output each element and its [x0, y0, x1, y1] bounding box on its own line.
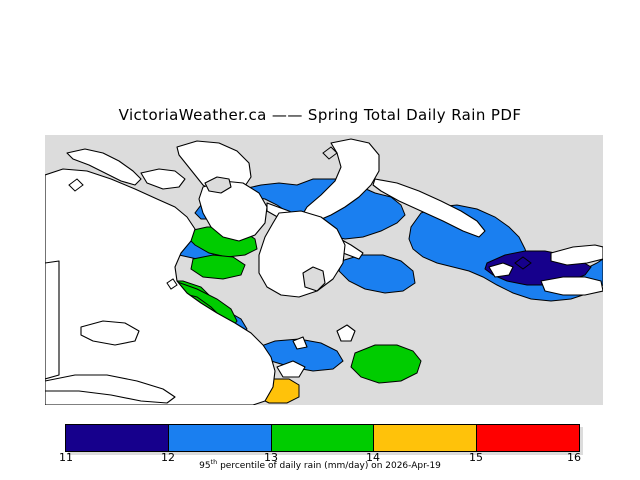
coast-east-white-strip-b — [541, 277, 603, 295]
colorbar-band-11-12[interactable] — [66, 425, 169, 451]
caption-rest: percentile of daily rain (mm/day) on 202… — [217, 461, 441, 471]
screenshot-root: VictoriaWeather.ca —— Spring Total Daily… — [0, 0, 640, 480]
colorbar-band-15-16[interactable] — [477, 425, 579, 451]
coast-west-margin-land — [45, 261, 59, 379]
colorbar[interactable] — [65, 424, 580, 452]
colorbar-band-12-13[interactable] — [169, 425, 272, 451]
caption-percentile-number: 95 — [199, 461, 210, 471]
weather-map[interactable] — [45, 135, 603, 405]
colorbar-band-14-15[interactable] — [374, 425, 477, 451]
colorbar-caption: 95th percentile of daily rain (mm/day) o… — [0, 461, 640, 471]
page-title: VictoriaWeather.ca —— Spring Total Daily… — [0, 106, 640, 124]
colorbar-band-13-14[interactable] — [272, 425, 375, 451]
map-canvas — [45, 135, 603, 405]
